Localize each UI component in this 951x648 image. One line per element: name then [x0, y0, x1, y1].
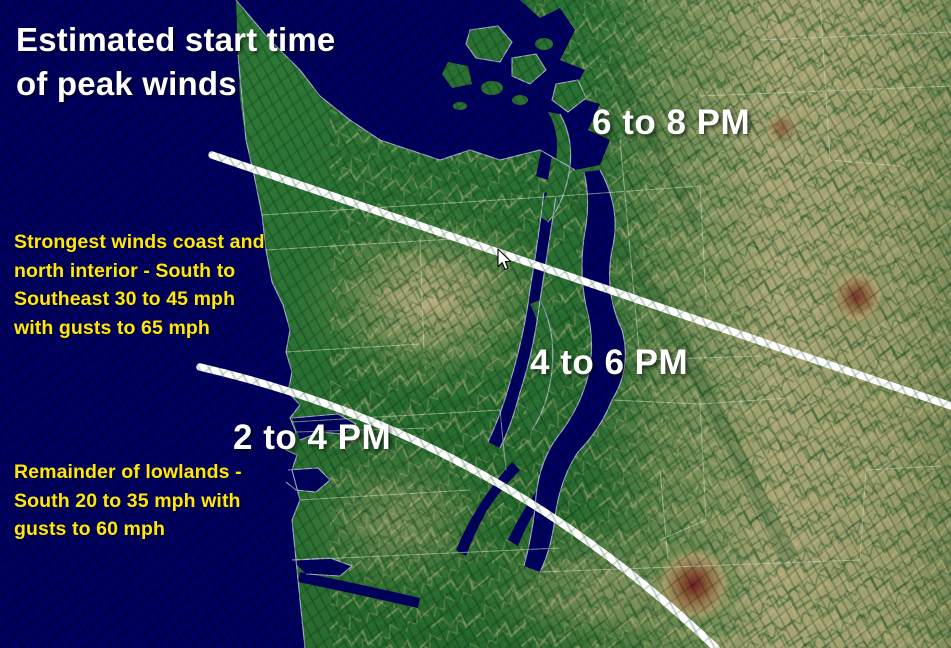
title-line-1: Estimated start time — [16, 18, 486, 62]
note-strongest-winds: Strongest winds coast and north interior… — [14, 228, 266, 343]
weather-map-graphic: Estimated start time of peak winds Stron… — [0, 0, 951, 648]
mouse-cursor-arrow-icon — [497, 248, 513, 272]
time-label-2-to-4-pm: 2 to 4 PM — [233, 418, 391, 458]
time-label-6-to-8-pm: 6 to 8 PM — [592, 103, 750, 143]
page-title: Estimated start time of peak winds — [16, 18, 486, 105]
title-line-2: of peak winds — [16, 62, 486, 106]
volcano-peak — [648, 539, 740, 631]
time-label-4-to-6-pm: 4 to 6 PM — [530, 343, 688, 383]
note-remainder-lowlands: Remainder of lowlands - South 20 to 35 m… — [14, 458, 296, 544]
